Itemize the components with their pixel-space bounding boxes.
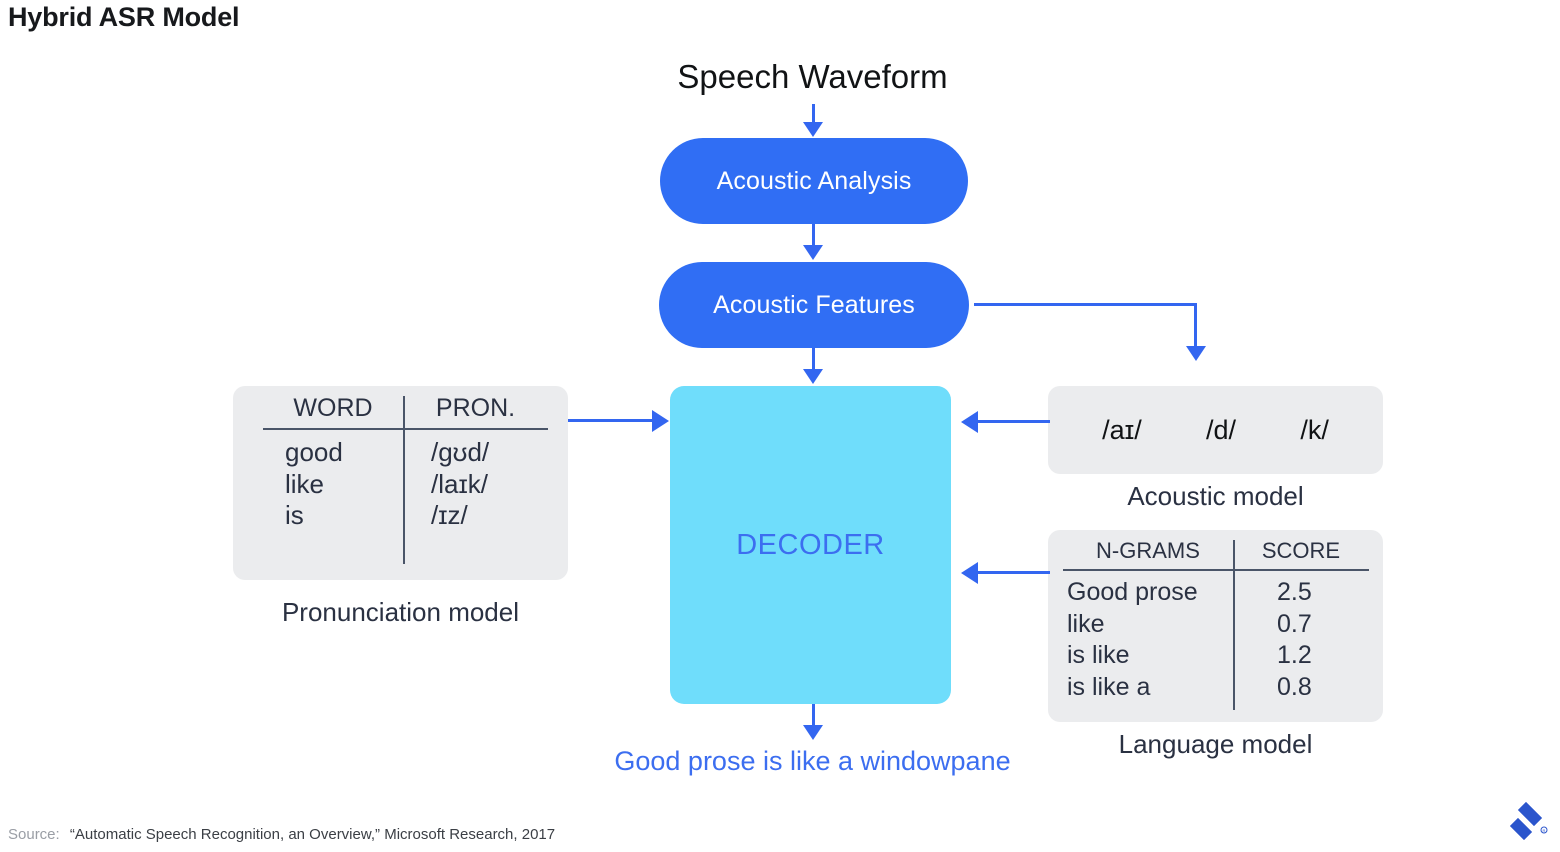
connector-features-to-decoder bbox=[812, 348, 815, 370]
arrowhead-acoustic-model-to-decoder bbox=[961, 411, 978, 433]
language-model-column-ngrams: Good prose like is like is like a bbox=[1063, 577, 1233, 703]
language-model-header-score: SCORE bbox=[1233, 538, 1369, 564]
node-acoustic-analysis-label: Acoustic Analysis bbox=[717, 167, 912, 196]
phoneme-item: /aɪ/ bbox=[1102, 415, 1142, 446]
pronunciation-header-word: WORD bbox=[263, 394, 403, 423]
table-cell: is bbox=[285, 500, 403, 532]
table-cell: like bbox=[1067, 609, 1233, 641]
svg-text:R: R bbox=[1543, 828, 1546, 833]
arrowhead-waveform-to-analysis bbox=[803, 122, 823, 137]
phoneme-item: /k/ bbox=[1300, 415, 1329, 446]
table-cell: /ɪz/ bbox=[431, 500, 548, 532]
table-cell: /gʊd/ bbox=[431, 437, 548, 469]
pronunciation-table-body: good like is /gʊd/ /laɪk/ /ɪz/ bbox=[263, 430, 548, 532]
pronunciation-model-table: WORD PRON. good like is /gʊd/ /laɪk/ /ɪz… bbox=[263, 394, 548, 532]
node-acoustic-features[interactable]: Acoustic Features bbox=[659, 262, 969, 348]
connector-features-to-acoustic-model-horizontal bbox=[974, 303, 1197, 306]
connector-analysis-to-features bbox=[812, 224, 815, 246]
table-cell: 2.5 bbox=[1277, 577, 1369, 609]
decoder-label-wrap: DECODER bbox=[670, 386, 951, 704]
pronunciation-header-pron: PRON. bbox=[403, 394, 548, 423]
node-acoustic-analysis[interactable]: Acoustic Analysis bbox=[660, 138, 968, 224]
table-cell: /laɪk/ bbox=[431, 469, 548, 501]
source-label: Source: bbox=[8, 826, 60, 843]
connector-waveform-to-analysis bbox=[812, 104, 815, 124]
language-model-column-divider bbox=[1233, 540, 1235, 710]
source-text: “Automatic Speech Recognition, an Overvi… bbox=[70, 826, 555, 843]
acoustic-model-caption: Acoustic model bbox=[1048, 481, 1383, 512]
phoneme-item: /d/ bbox=[1206, 415, 1236, 446]
table-cell: 1.2 bbox=[1277, 640, 1369, 672]
arrowhead-pronunciation-to-decoder bbox=[652, 410, 669, 432]
node-acoustic-features-label: Acoustic Features bbox=[713, 291, 915, 320]
pronunciation-column-pron: /gʊd/ /laɪk/ /ɪz/ bbox=[403, 437, 548, 532]
language-model-table: N-GRAMS SCORE Good prose like is like is… bbox=[1063, 538, 1369, 703]
decoder-output-text: Good prose is like a windowpane bbox=[560, 746, 1065, 777]
pronunciation-table-column-divider bbox=[403, 396, 405, 564]
language-model-header-ngrams: N-GRAMS bbox=[1063, 538, 1233, 564]
acoustic-model-phoneme-row: /aɪ/ /d/ /k/ bbox=[1048, 386, 1383, 474]
language-model-caption: Language model bbox=[1048, 729, 1383, 760]
connector-language-model-to-decoder bbox=[978, 571, 1050, 574]
table-cell: is like a bbox=[1067, 672, 1233, 704]
brand-logo-icon: R bbox=[1504, 802, 1548, 842]
arrowhead-decoder-to-output bbox=[803, 725, 823, 740]
speech-waveform-label: Speech Waveform bbox=[650, 58, 975, 96]
page-title: Hybrid ASR Model bbox=[8, 2, 239, 33]
table-cell: is like bbox=[1067, 640, 1233, 672]
connector-features-to-acoustic-model-vertical bbox=[1194, 303, 1197, 348]
decoder-label: DECODER bbox=[736, 529, 885, 562]
language-model-column-score: 2.5 0.7 1.2 0.8 bbox=[1233, 577, 1369, 703]
table-cell: 0.8 bbox=[1277, 672, 1369, 704]
pronunciation-model-caption: Pronunciation model bbox=[233, 597, 568, 628]
source-row: Source: “Automatic Speech Recognition, a… bbox=[8, 826, 555, 843]
language-model-header-row: N-GRAMS SCORE bbox=[1063, 538, 1369, 564]
arrowhead-language-model-to-decoder bbox=[961, 562, 978, 584]
table-cell: Good prose bbox=[1067, 577, 1233, 609]
language-model-table-body: Good prose like is like is like a 2.5 0.… bbox=[1063, 571, 1369, 703]
arrowhead-features-to-acoustic-model bbox=[1186, 346, 1206, 361]
table-cell: 0.7 bbox=[1277, 609, 1369, 641]
arrowhead-analysis-to-features bbox=[803, 245, 823, 260]
connector-acoustic-model-to-decoder bbox=[978, 420, 1050, 423]
connector-pronunciation-to-decoder bbox=[568, 419, 654, 422]
arrowhead-features-to-decoder bbox=[803, 369, 823, 384]
table-cell: good bbox=[285, 437, 403, 469]
table-cell: like bbox=[285, 469, 403, 501]
pronunciation-column-word: good like is bbox=[263, 437, 403, 532]
connector-decoder-to-output bbox=[812, 704, 815, 726]
pronunciation-table-header-row: WORD PRON. bbox=[263, 394, 548, 423]
